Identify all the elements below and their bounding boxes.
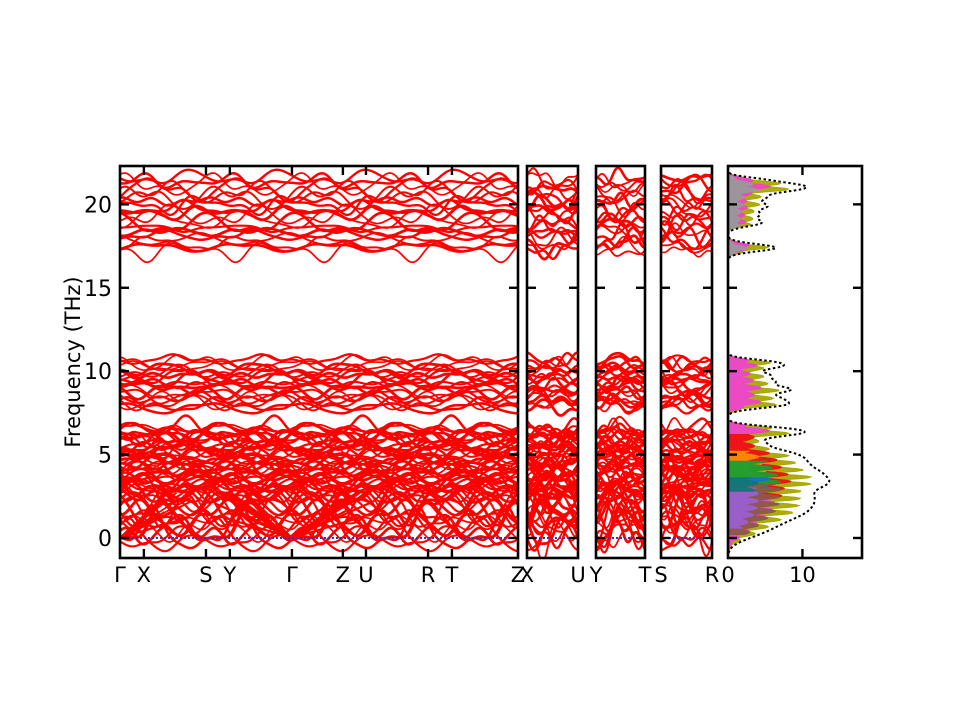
- y-axis-label: Frequency (THz): [61, 276, 85, 447]
- plot-canvas: 05101520ΓXSYΓZURTZXUYTSR010 Frequency (T…: [0, 0, 960, 720]
- x-tick-label: U: [358, 563, 373, 587]
- x-tick-label: S: [654, 563, 667, 587]
- x-tick-label: Y: [589, 563, 603, 587]
- x-tick-label: Z: [336, 563, 350, 587]
- phonon-bandstructure-figure: 05101520ΓXSYΓZURTZXUYTSR010 Frequency (T…: [0, 0, 960, 720]
- y-tick-label: 0: [98, 527, 112, 552]
- band-curves-3: [596, 168, 645, 553]
- y-tick-label: 15: [84, 277, 112, 302]
- x-tick-label: R: [421, 563, 436, 587]
- x-tick-label: X: [520, 563, 534, 587]
- phonon-band: [120, 173, 518, 195]
- x-tick-label: X: [137, 563, 151, 587]
- y-tick-label: 20: [84, 193, 112, 218]
- dos-x-tick-label: 0: [721, 563, 734, 587]
- phonon-band: [596, 174, 645, 188]
- x-tick-label: T: [638, 563, 652, 587]
- y-tick-label: 10: [84, 360, 112, 385]
- x-tick-label: T: [445, 563, 459, 587]
- dos-curves: [728, 166, 829, 558]
- band-curves-1: [113, 170, 518, 552]
- x-tick-label: U: [570, 563, 585, 587]
- band-structure-panels: [113, 168, 712, 561]
- dos-x-tick-label: 10: [789, 563, 816, 587]
- x-tick-label: Γ: [114, 563, 126, 587]
- dos-panel: [728, 166, 829, 558]
- x-tick-label: Y: [222, 563, 236, 587]
- band-curves-4: [661, 175, 712, 556]
- x-tick-label: S: [199, 563, 212, 587]
- x-tick-label: R: [705, 563, 720, 587]
- x-tick-label: Γ: [286, 563, 298, 587]
- y-tick-label: 5: [98, 444, 112, 469]
- band-curves-2: [527, 168, 578, 561]
